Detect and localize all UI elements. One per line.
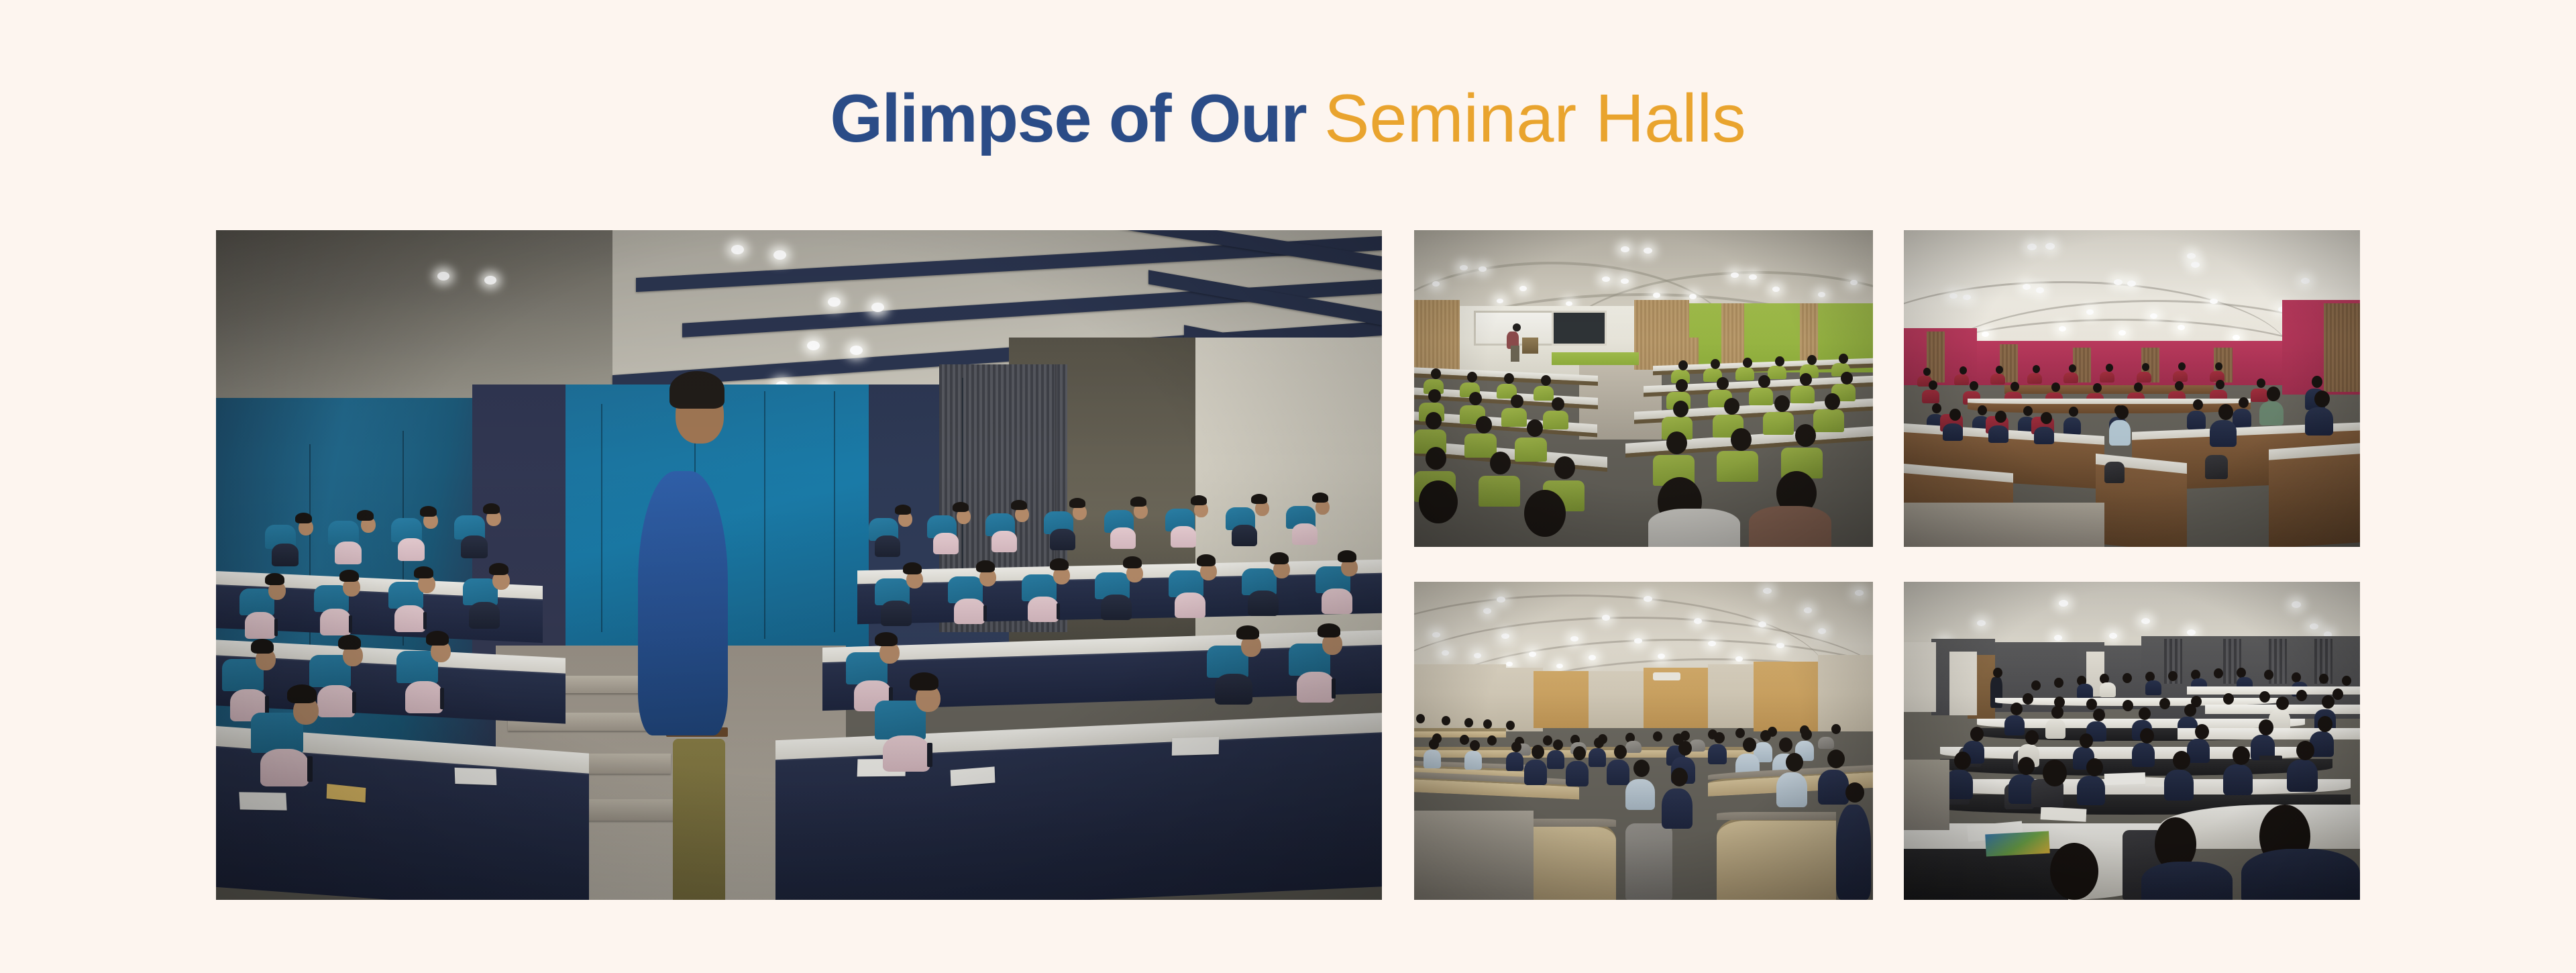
- grey-modern-hall-scene: [1904, 582, 2360, 900]
- gallery-photo-bottom-left[interactable]: [1414, 582, 1873, 900]
- gallery-photo-bottom-right[interactable]: [1904, 582, 2360, 900]
- photo-gallery: [216, 230, 2360, 900]
- gallery-photo-top-right[interactable]: [1904, 230, 2360, 547]
- green-lecture-theatre-scene: [1414, 230, 1873, 547]
- gallery-photo-top-left[interactable]: [1414, 230, 1873, 547]
- page-title: Glimpse of Our Seminar Halls: [0, 79, 2576, 159]
- seminar-hall-blue-scene: [216, 230, 1382, 900]
- page-title-accent: Seminar Halls: [1324, 81, 1746, 156]
- curved-wood-auditorium-scene: [1414, 582, 1873, 900]
- seminar-halls-gallery-section: Glimpse of Our Seminar Halls: [0, 0, 2576, 973]
- page-title-primary: Glimpse of Our: [830, 81, 1306, 156]
- gallery-photo-main[interactable]: [216, 230, 1382, 900]
- pink-wall-hall-scene: [1904, 230, 2360, 547]
